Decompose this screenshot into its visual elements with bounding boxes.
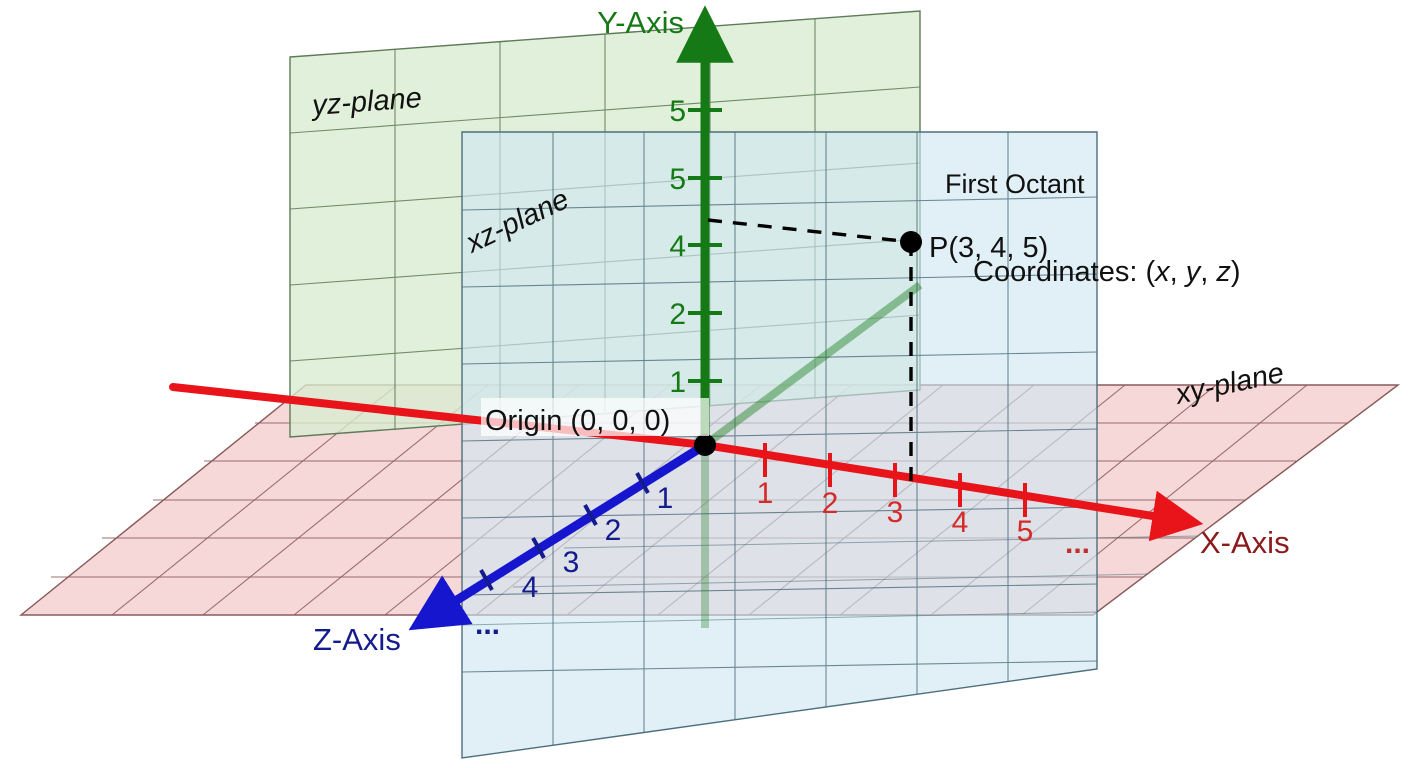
origin-label: Origin (0, 0, 0): [485, 405, 670, 437]
y-tick-label: 4: [669, 230, 686, 263]
coordinates-notation-label: Coordinates: (x, y, z): [973, 256, 1241, 288]
origin-annotation: Origin (0, 0, 0): [481, 398, 709, 437]
diagram-canvas: xy-plane yz-plane: [0, 0, 1408, 768]
x-tick-label: 2: [822, 487, 839, 520]
xz-plane-group: xz-plane: [459, 132, 1097, 758]
coordinates-suffix: ): [1231, 256, 1241, 288]
origin-marker: [694, 434, 716, 456]
x-tick-label: 1: [757, 477, 774, 510]
first-octant-label: First Octant: [945, 169, 1085, 199]
xz-plane-surface: [462, 132, 1097, 758]
x-axis-label: X-Axis: [1200, 525, 1290, 560]
y-axis-label: Y-Axis: [597, 5, 684, 40]
coordinates-sep1: ,: [1170, 256, 1186, 288]
z-axis-label: Z-Axis: [313, 622, 401, 657]
y-tick-label: 2: [669, 298, 686, 331]
x-tick-label: 3: [887, 496, 904, 529]
y-tick-label: 5: [669, 95, 686, 128]
z-tick-label: 3: [563, 546, 580, 579]
z-tick-label: 2: [605, 514, 622, 547]
point-p-marker: [900, 231, 922, 253]
z-axis-ellipsis: ...: [475, 608, 500, 641]
coordinates-x: x: [1153, 256, 1171, 288]
z-tick-label: 4: [522, 571, 539, 604]
y-tick-label: 5: [669, 163, 686, 196]
coordinates-prefix: Coordinates: (: [973, 256, 1155, 288]
x-tick-label: 4: [952, 506, 969, 539]
z-tick-label: 1: [657, 482, 674, 515]
x-axis-ellipsis: ...: [1065, 527, 1090, 560]
coordinate-system-svg: xy-plane yz-plane: [0, 0, 1408, 768]
coordinates-sep2: ,: [1200, 256, 1216, 288]
y-tick-label: 1: [669, 366, 686, 399]
coordinates-z: z: [1215, 256, 1231, 288]
coordinates-y: y: [1184, 256, 1202, 288]
x-tick-label: 5: [1017, 515, 1034, 548]
